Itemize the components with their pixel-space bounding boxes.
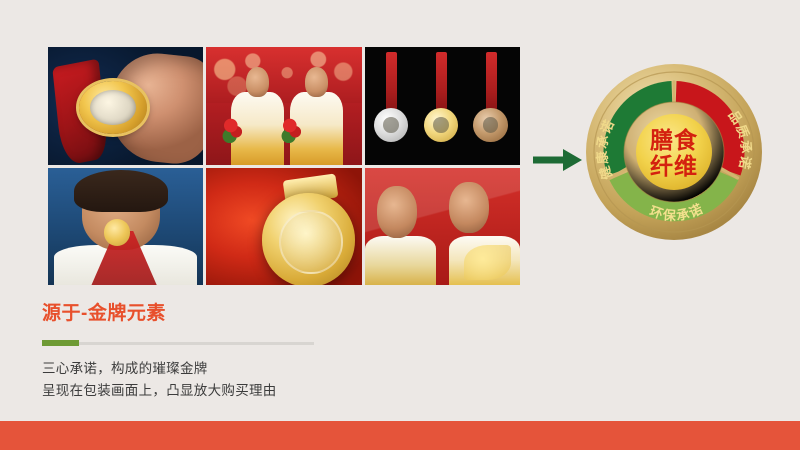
- page-title: 源于-金牌元素: [42, 303, 472, 326]
- bouquet-shape: [281, 118, 303, 144]
- uniform-pattern: [464, 245, 511, 280]
- badge-center-line-1: 膳食: [649, 127, 698, 153]
- gold-medal-shape: [79, 81, 147, 134]
- caption-block: 源于-金牌元素 三心承诺，构成的璀璨金牌 呈现在包装画面上，凸显放大购买理由: [42, 303, 472, 402]
- body-line-2: 呈现在包装画面上，凸显放大购买理由: [42, 380, 472, 402]
- divider: [42, 342, 314, 345]
- medal-photo-collage: [48, 47, 520, 285]
- torso-shape: [365, 236, 436, 285]
- gold-medal-shape: [424, 108, 458, 142]
- badge-center-line-2: 纤维: [650, 153, 698, 179]
- collage-photo-medal-closeup: [206, 168, 361, 286]
- hair-shape: [74, 170, 167, 212]
- face-shape: [449, 182, 489, 234]
- bouquet-shape: [222, 118, 244, 144]
- medal-ribbon-shape: [486, 52, 497, 111]
- crowd-background: [206, 47, 361, 103]
- medal-ribbon-shape: [436, 52, 447, 111]
- body-line-1: 三心承诺，构成的璀璨金牌: [42, 358, 472, 380]
- face-shape: [377, 186, 417, 238]
- arrow-right-icon: [533, 147, 583, 173]
- collage-photo-three-medals: [365, 47, 520, 165]
- medal-ribbon-shape: [386, 52, 397, 111]
- gold-medal-badge: 健康承诺 品质承诺 环保承诺 膳食 纤维: [584, 62, 764, 242]
- gold-medal-shape: [104, 219, 130, 245]
- collage-photo-podium-athletes: [206, 47, 361, 165]
- footer-bar: [0, 421, 800, 450]
- collage-photo-hand-holding-medal: [48, 47, 203, 165]
- gold-medal-shape: [262, 193, 355, 285]
- bronze-medal-shape: [473, 108, 507, 142]
- collage-photo-coach-and-athlete: [365, 168, 520, 286]
- silver-medal-shape: [374, 108, 408, 142]
- divider-accent: [42, 340, 79, 346]
- collage-photo-athlete-biting-medal: [48, 168, 203, 286]
